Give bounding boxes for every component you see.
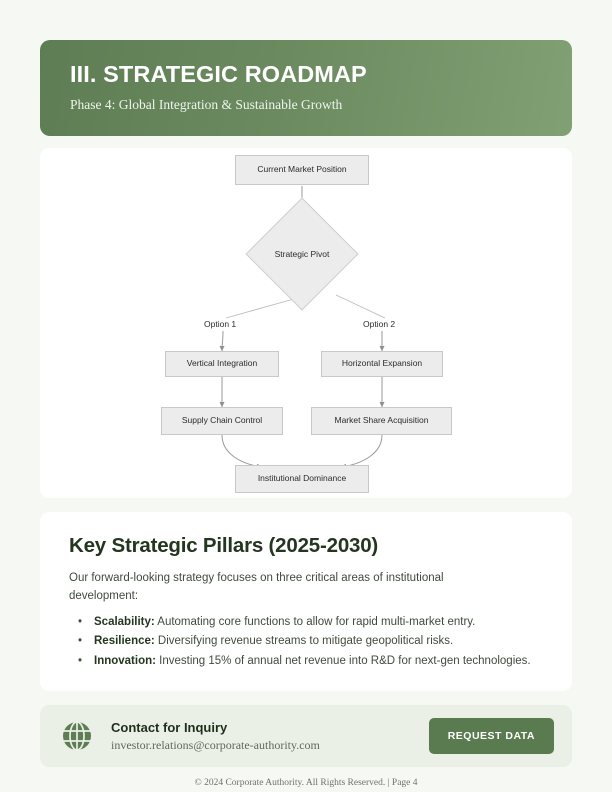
pillar-term: Innovation: [94, 655, 156, 667]
flow-edge-label-option-2: Option 2 [363, 319, 395, 329]
pillar-text: Diversifying revenue streams to mitigate… [155, 635, 453, 647]
list-item: Scalability: Automating core functions t… [91, 613, 543, 633]
pillars-intro: Our forward-looking strategy focuses on … [69, 570, 509, 606]
flow-node-label: Institutional Dominance [258, 474, 346, 483]
pillar-term: Resilience: [94, 635, 155, 647]
pillars-card: Key Strategic Pillars (2025-2030) Our fo… [40, 512, 572, 691]
flow-node-label: Supply Chain Control [182, 416, 262, 425]
flow-node-market-share-acquisition[interactable]: Market Share Acquisition [311, 407, 452, 435]
pillar-text: Investing 15% of annual net revenue into… [156, 655, 531, 667]
page-footer: © 2024 Corporate Authority. All Rights R… [40, 778, 572, 788]
flow-node-vertical-integration[interactable]: Vertical Integration [165, 351, 279, 377]
flow-node-institutional-dominance[interactable]: Institutional Dominance [235, 465, 369, 493]
diagram-card: Current Market Position Strategic Pivot … [40, 148, 572, 498]
document-page: III. STRATEGIC ROADMAP Phase 4: Global I… [0, 0, 612, 792]
contact-email[interactable]: investor.relations@corporate-authority.c… [111, 738, 429, 752]
flow-node-label: Vertical Integration [187, 359, 257, 368]
flow-node-horizontal-expansion[interactable]: Horizontal Expansion [321, 351, 443, 377]
pillars-heading: Key Strategic Pillars (2025-2030) [69, 534, 543, 558]
flow-node-label: Horizontal Expansion [342, 359, 422, 368]
flow-edge-label-option-1: Option 1 [204, 319, 236, 329]
contact-card: Contact for Inquiry investor.relations@c… [40, 705, 572, 767]
page-subtitle: Phase 4: Global Integration & Sustainabl… [70, 97, 542, 113]
flow-node-current-market-position[interactable]: Current Market Position [235, 155, 369, 185]
page-title: III. STRATEGIC ROADMAP [70, 62, 542, 88]
globe-icon [60, 719, 94, 753]
pillar-term: Scalability: [94, 616, 155, 628]
strategy-flowchart: Current Market Position Strategic Pivot … [40, 148, 572, 498]
list-item: Innovation: Investing 15% of annual net … [91, 652, 543, 672]
request-data-button[interactable]: REQUEST DATA [429, 718, 554, 754]
flow-node-label: Market Share Acquisition [334, 416, 428, 425]
contact-text: Contact for Inquiry investor.relations@c… [111, 720, 429, 753]
flow-node-label-strategic-pivot: Strategic Pivot [262, 249, 342, 259]
pillars-list: Scalability: Automating core functions t… [69, 613, 543, 672]
flow-node-supply-chain-control[interactable]: Supply Chain Control [161, 407, 283, 435]
list-item: Resilience: Diversifying revenue streams… [91, 632, 543, 652]
section-banner: III. STRATEGIC ROADMAP Phase 4: Global I… [40, 40, 572, 136]
flow-node-label: Current Market Position [257, 165, 346, 174]
pillar-text: Automating core functions to allow for r… [155, 616, 476, 628]
contact-title: Contact for Inquiry [111, 720, 429, 736]
